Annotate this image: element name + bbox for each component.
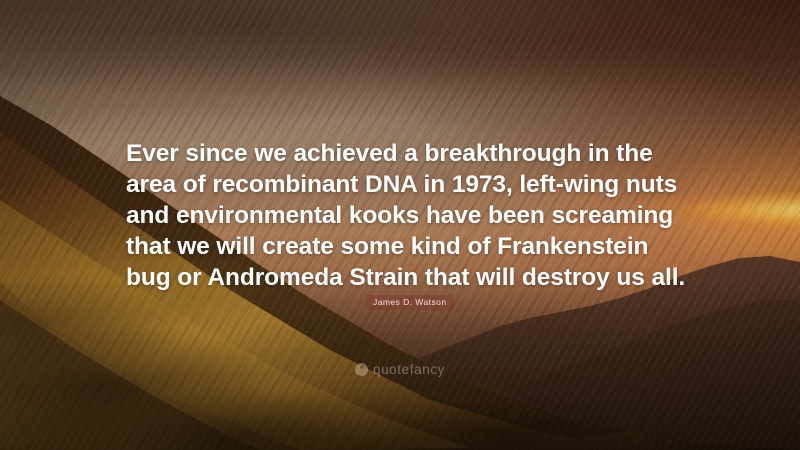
quote-line: bug or Andromeda Strain that will destro…: [126, 262, 678, 293]
quote-poster: Ever since we achieved a breakthrough in…: [0, 0, 800, 450]
author-name-badge: James D. Watson: [366, 295, 454, 310]
quote-line: and environmental kooks have been scream…: [126, 200, 678, 231]
quotefancy-wordmark: quotefancy: [373, 362, 445, 377]
quote-text-block: Ever since we achieved a breakthrough in…: [126, 138, 678, 293]
quotefancy-logo-icon: ❝: [355, 363, 368, 376]
quote-line: that we will create some kind of Franken…: [126, 231, 678, 262]
quote-line: Ever since we achieved a breakthrough in…: [126, 138, 678, 169]
quotefancy-watermark: ❝ quotefancy: [0, 362, 800, 377]
quote-line: area of recombinant DNA in 1973, left-wi…: [126, 169, 678, 200]
